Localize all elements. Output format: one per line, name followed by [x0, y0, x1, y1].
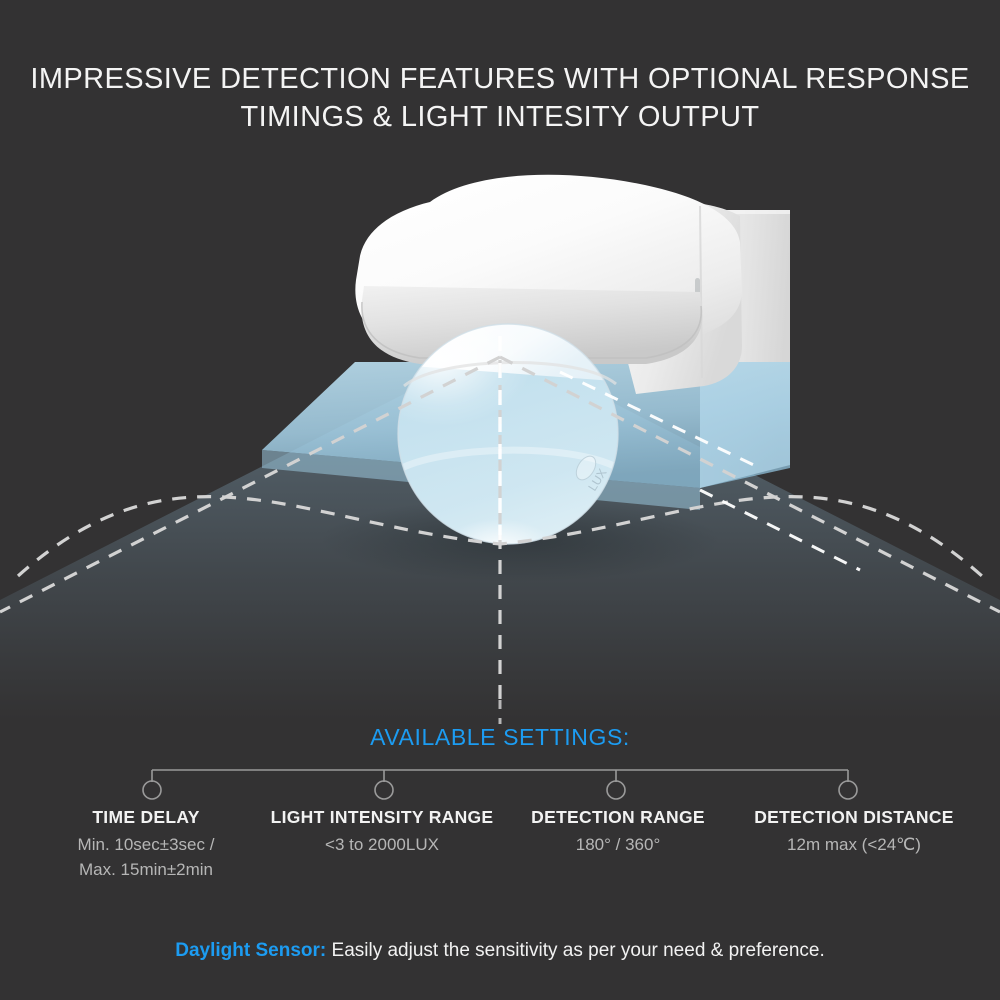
spec-title-time-delay: TIME DELAY [32, 806, 260, 828]
spec-value-line: Min. 10sec±3sec / [32, 832, 260, 857]
bracket-node-4 [839, 781, 857, 799]
spec-title-detection-range: DETECTION RANGE [504, 806, 732, 828]
spec-value-detection-range: 180° / 360° [504, 832, 732, 857]
daylight-sensor-note: Daylight Sensor: Easily adjust the sensi… [0, 938, 1000, 964]
spec-value-line: 180° / 360° [504, 832, 732, 857]
infographic-page: IMPRESSIVE DETECTION FEATURES WITH OPTIO… [0, 0, 1000, 1000]
daylight-sensor-text: Easily adjust the sensitivity as per you… [326, 940, 824, 961]
spec-title-light-intensity-range: LIGHT INTENSITY RANGE [268, 806, 496, 828]
bracket-node-2 [375, 781, 393, 799]
page-title-line-2: TIMINGS & LIGHT INTESITY OUTPUT [0, 98, 1000, 136]
daylight-sensor-label: Daylight Sensor: [175, 940, 326, 961]
page-title: IMPRESSIVE DETECTION FEATURES WITH OPTIO… [0, 60, 1000, 136]
spec-value-line: 12m max (<24℃) [740, 832, 968, 857]
spec-value-line: Max. 15min±2min [32, 857, 260, 882]
product-illustration: LUX [0, 150, 1000, 720]
spec-item-light-intensity-range: LIGHT INTENSITY RANGE <3 to 2000LUX [264, 806, 500, 857]
spec-value-time-delay: Min. 10sec±3sec / Max. 15min±2min [32, 832, 260, 882]
page-title-line-1: IMPRESSIVE DETECTION FEATURES WITH OPTIO… [0, 60, 1000, 98]
bracket-node-1 [143, 781, 161, 799]
spec-item-detection-distance: DETECTION DISTANCE 12m max (<24℃) [736, 806, 972, 857]
spec-title-detection-distance: DETECTION DISTANCE [740, 806, 968, 828]
spec-value-light-intensity-range: <3 to 2000LUX [268, 832, 496, 857]
bracket-node-3 [607, 781, 625, 799]
settings-list: TIME DELAY Min. 10sec±3sec / Max. 15min±… [28, 806, 972, 882]
available-settings-heading: AVAILABLE SETTINGS: [0, 724, 1000, 751]
spec-item-time-delay: TIME DELAY Min. 10sec±3sec / Max. 15min±… [28, 806, 264, 882]
spec-value-line: <3 to 2000LUX [268, 832, 496, 857]
settings-bracket [0, 755, 1000, 805]
spec-value-detection-distance: 12m max (<24℃) [740, 832, 968, 857]
spec-item-detection-range: DETECTION RANGE 180° / 360° [500, 806, 736, 857]
